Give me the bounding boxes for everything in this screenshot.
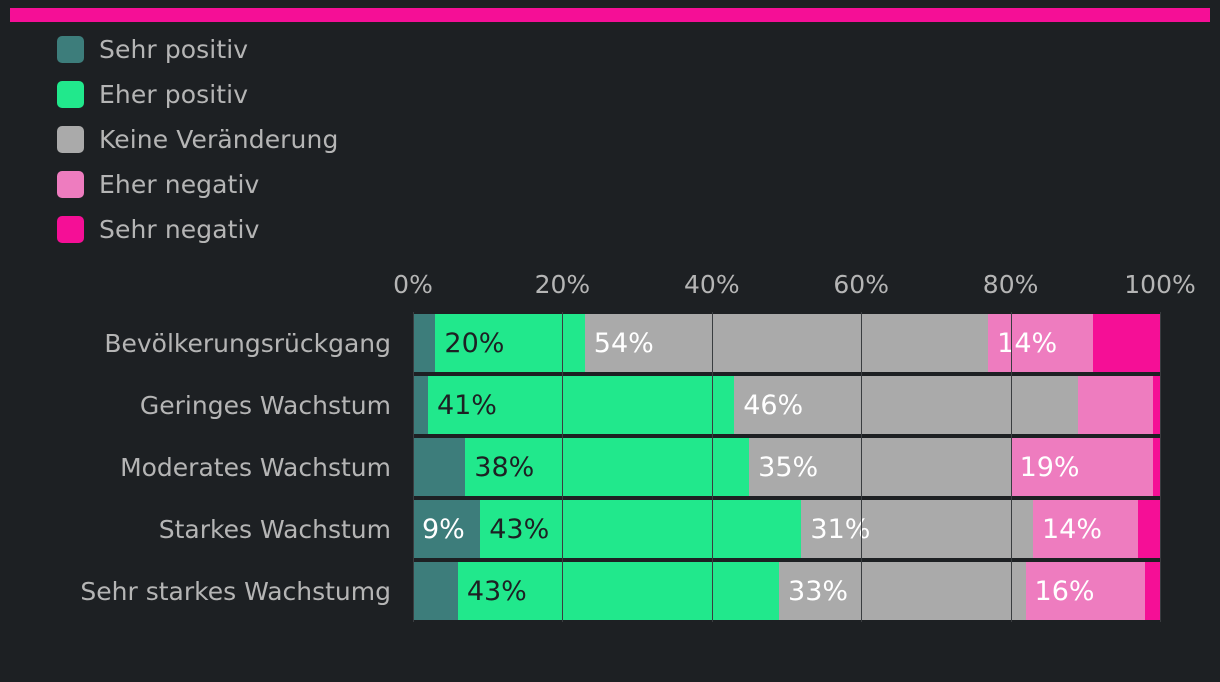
bar-row-label: Geringes Wachstum — [140, 374, 391, 436]
bar-row-label: Bevölkerungsrückgang — [104, 312, 391, 374]
bar-segment[interactable]: 35% — [749, 438, 1010, 496]
bar-segment[interactable]: 19% — [1011, 438, 1153, 496]
bar-segment-value-label: 14% — [1033, 516, 1102, 543]
bar-track: 9%43%31%14% — [413, 500, 1160, 558]
bar-row[interactable]: Moderates Wachstum38%35%19% — [413, 436, 1160, 498]
x-axis-tick-label: 100% — [1124, 270, 1195, 299]
legend-swatch-icon — [57, 171, 84, 198]
bar-segment-value-label: 9% — [413, 516, 465, 543]
bar-track: 41%46% — [413, 376, 1160, 434]
bar-segment-value-label: 46% — [734, 392, 803, 419]
bar-segment[interactable] — [1153, 376, 1160, 434]
x-axis-tick-label: 60% — [833, 270, 889, 299]
legend-item-sehr-negativ[interactable]: Sehr negativ — [57, 207, 577, 252]
legend-item-label: Eher negativ — [99, 170, 259, 199]
legend-item-label: Sehr positiv — [99, 35, 248, 64]
bar-segment[interactable] — [413, 562, 458, 620]
bar-segment-value-label: 35% — [749, 454, 818, 481]
bar-segment-value-label: 31% — [801, 516, 870, 543]
bar-segment-value-label: 41% — [428, 392, 497, 419]
bar-segment[interactable] — [1145, 562, 1160, 620]
bar-segment[interactable] — [1153, 438, 1160, 496]
bar-segment[interactable]: 31% — [801, 500, 1033, 558]
bar-segment-value-label: 33% — [779, 578, 848, 605]
x-axis-tick-label: 80% — [983, 270, 1039, 299]
x-axis-tick-label: 20% — [535, 270, 591, 299]
bar-segment[interactable] — [413, 376, 428, 434]
bar-segment[interactable] — [1078, 376, 1153, 434]
legend-swatch-icon — [57, 81, 84, 108]
bar-track: 43%33%16% — [413, 562, 1160, 620]
bar-segment[interactable] — [413, 438, 465, 496]
bar-segment[interactable]: 38% — [465, 438, 749, 496]
bar-row-label: Sehr starkes Wachstumg — [80, 560, 391, 622]
legend-item-label: Eher positiv — [99, 80, 248, 109]
bar-segment[interactable] — [1138, 500, 1160, 558]
x-axis: 0%20%40%60%80%100% — [413, 262, 1160, 312]
x-axis-tick-label: 0% — [393, 270, 433, 299]
legend-swatch-icon — [57, 36, 84, 63]
bar-segment-value-label: 54% — [585, 330, 654, 357]
bar-segment[interactable]: 43% — [458, 562, 779, 620]
bar-segment[interactable]: 16% — [1026, 562, 1146, 620]
legend-item-label: Sehr negativ — [99, 215, 259, 244]
bar-segment[interactable]: 9% — [413, 500, 480, 558]
bar-track: 38%35%19% — [413, 438, 1160, 496]
legend-item-label: Keine Veränderung — [99, 125, 338, 154]
x-axis-tick-label: 40% — [684, 270, 740, 299]
bar-segment[interactable]: 14% — [1033, 500, 1138, 558]
gridline — [1160, 312, 1161, 622]
top-accent-bar — [10, 8, 1210, 22]
bar-segment-value-label: 38% — [465, 454, 534, 481]
bar-row-label: Moderates Wachstum — [120, 436, 391, 498]
bar-segment[interactable]: 43% — [480, 500, 801, 558]
bar-row[interactable]: Starkes Wachstum9%43%31%14% — [413, 498, 1160, 560]
bar-segment-value-label: 14% — [988, 330, 1057, 357]
legend-item-eher-negativ[interactable]: Eher negativ — [57, 162, 577, 207]
legend-item-sehr-positiv[interactable]: Sehr positiv — [57, 27, 577, 72]
bar-segment[interactable]: 33% — [779, 562, 1026, 620]
legend-item-keine-veraenderung[interactable]: Keine Veränderung — [57, 117, 577, 162]
bar-row[interactable]: Sehr starkes Wachstumg43%33%16% — [413, 560, 1160, 622]
bar-segment[interactable] — [413, 314, 435, 372]
bar-segment-value-label: 43% — [458, 578, 527, 605]
legend-item-eher-positiv[interactable]: Eher positiv — [57, 72, 577, 117]
bar-segment[interactable]: 20% — [435, 314, 584, 372]
bar-row[interactable]: Geringes Wachstum41%46% — [413, 374, 1160, 436]
bar-track: 20%54%14% — [413, 314, 1160, 372]
bar-segment[interactable] — [1093, 314, 1160, 372]
bar-row[interactable]: Bevölkerungsrückgang20%54%14% — [413, 312, 1160, 374]
bar-segment[interactable]: 41% — [428, 376, 734, 434]
bar-segment-value-label: 43% — [480, 516, 549, 543]
bar-segment[interactable]: 54% — [585, 314, 988, 372]
legend-swatch-icon — [57, 216, 84, 243]
bar-segment-value-label: 20% — [435, 330, 504, 357]
bar-segment[interactable]: 14% — [988, 314, 1093, 372]
chart-legend: Sehr positivEher positivKeine Veränderun… — [57, 27, 577, 252]
bar-row-label: Starkes Wachstum — [159, 498, 391, 560]
bar-segment-value-label: 19% — [1011, 454, 1080, 481]
bar-segment[interactable]: 46% — [734, 376, 1078, 434]
plot-area: Bevölkerungsrückgang20%54%14%Geringes Wa… — [413, 312, 1160, 622]
legend-swatch-icon — [57, 126, 84, 153]
bar-segment-value-label: 16% — [1026, 578, 1095, 605]
stacked-bar-chart: 0%20%40%60%80%100% Bevölkerungsrückgang2… — [0, 262, 1220, 622]
